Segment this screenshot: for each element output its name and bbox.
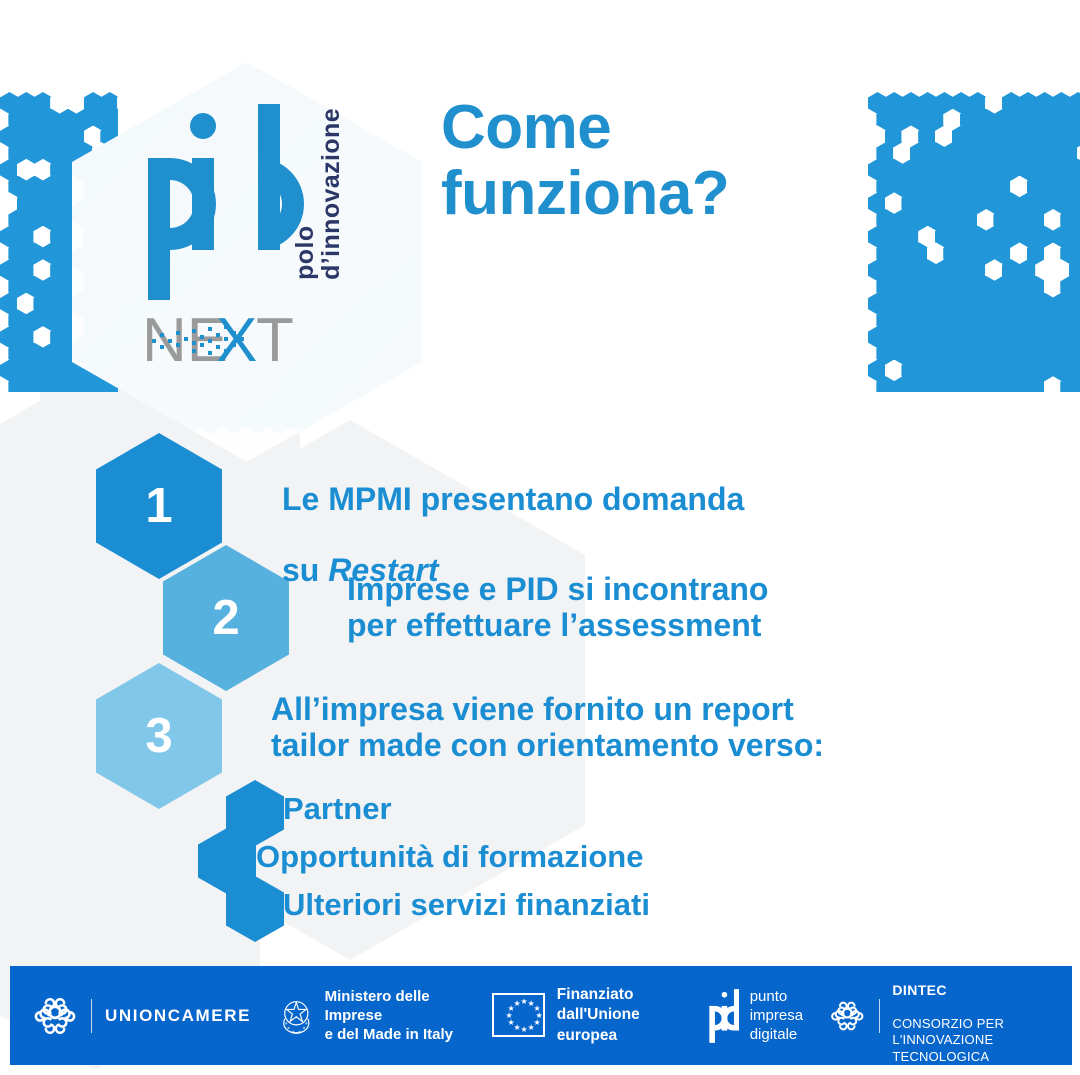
step-text-2: Imprese e PID si incontrano per effettua… xyxy=(347,572,768,644)
page-title: Come funziona? xyxy=(441,95,729,226)
logo-texture-cell xyxy=(427,267,453,297)
logo-texture-cell xyxy=(95,62,121,92)
logo-texture-cell xyxy=(381,404,407,434)
logo-texture-cell xyxy=(404,85,430,115)
logo-texture-cell xyxy=(347,62,373,92)
logo-texture-cell xyxy=(415,108,441,138)
logo-texture-cell xyxy=(301,62,327,92)
logo-texture-cell xyxy=(427,358,453,388)
pid-logo-icon xyxy=(130,100,305,300)
dintec-name: DINTEC xyxy=(892,982,1072,1000)
pid-logo-icon xyxy=(708,988,742,1044)
step-number-1: 1 xyxy=(145,478,172,534)
step-hexagon-2: 2 xyxy=(163,545,289,691)
footer-eu: ★ ★ ★ ★ ★ ★ ★ ★ ★ ★ ★ ★ Finanziato dall'… xyxy=(492,985,679,1045)
logo-texture-cell xyxy=(106,404,132,434)
step-number-2: 2 xyxy=(212,590,239,646)
step-hexagon-3: 3 xyxy=(96,663,222,809)
logo-texture-cell xyxy=(392,108,418,138)
logo-texture-cell xyxy=(392,381,418,411)
svg-text:T: T xyxy=(256,306,294,375)
unioncamere-swirl-icon xyxy=(32,993,78,1039)
logo-texture-cell xyxy=(129,404,155,434)
logo-texture-cell xyxy=(415,62,441,92)
dintec-subtitle: CONSORZIO PER L'INNOVAZIONE TECNOLOGICA xyxy=(892,1016,1004,1064)
footer-unioncamere: UNIONCAMERE xyxy=(32,993,251,1039)
ministero-label: Ministero delle Imprese e del Made in It… xyxy=(325,987,465,1045)
bullet-label: Partner xyxy=(283,793,392,824)
logo-texture-cell xyxy=(415,381,441,411)
step-text-1: Le MPMI presentano domanda su Restart xyxy=(282,446,744,589)
eu-flag-icon: ★ ★ ★ ★ ★ ★ ★ ★ ★ ★ ★ ★ xyxy=(492,993,544,1037)
logo-texture-cell xyxy=(358,404,384,434)
step-text-1-line1: Le MPMI presentano domanda xyxy=(282,481,744,517)
logo-texture-cell xyxy=(427,404,453,434)
step-number-3: 3 xyxy=(145,708,172,764)
eu-label: Finanziato dall'Unione europea xyxy=(557,985,680,1045)
logo-texture-cell xyxy=(358,85,384,115)
logo-texture-cell xyxy=(118,62,144,92)
honeycomb-pattern-right xyxy=(868,92,1080,392)
step-text-3: All’impresa viene fornito un report tail… xyxy=(271,692,824,764)
logo-texture-cell xyxy=(404,404,430,434)
svg-text:X: X xyxy=(216,306,257,375)
footer-dintec: DINTEC CONSORZIO PER L'INNOVAZIONE TECNO… xyxy=(829,966,1072,1065)
dintec-label: DINTEC CONSORZIO PER L'INNOVAZIONE TECNO… xyxy=(892,966,1072,1065)
unioncamere-label: UNIONCAMERE xyxy=(105,1006,251,1026)
step-hexagon-1: 1 xyxy=(96,433,222,579)
footer-divider xyxy=(879,999,880,1033)
footer-pid: punto impresa digitale xyxy=(708,987,803,1045)
pid-next-logo: polo d’innovazione NE T X xyxy=(130,100,360,380)
poster-canvas: polo d’innovazione NE T X xyxy=(0,0,1080,1075)
logo-texture-cell xyxy=(381,85,407,115)
logo-texture-cell xyxy=(72,62,98,92)
bullet-label: Ulteriori servizi finanziati xyxy=(283,889,650,920)
footer-bar: UNIONCAMERE Ministero delle Imprese e de… xyxy=(10,966,1072,1065)
logo-texture-cell xyxy=(141,62,167,92)
italian-republic-emblem-icon xyxy=(277,991,316,1041)
footer-ministero: Ministero delle Imprese e del Made in It… xyxy=(277,987,464,1045)
logo-texture-cell xyxy=(427,313,453,343)
pid-label: punto impresa digitale xyxy=(750,987,803,1045)
footer-divider xyxy=(91,999,92,1033)
logo-texture-cell xyxy=(324,62,350,92)
next-wordmark: NE T X xyxy=(138,305,358,375)
logo-texture-cell xyxy=(369,62,395,92)
bullet-label: Opportunità di formazione xyxy=(256,841,644,872)
next-wordmark-icon: NE T X xyxy=(138,305,358,375)
logo-texture-cell xyxy=(164,62,190,92)
logo-vertical-text: polo d’innovazione xyxy=(292,108,344,280)
dintec-swirl-icon xyxy=(829,994,866,1038)
logo-texture-cell xyxy=(392,62,418,92)
logo-texture-cell xyxy=(369,108,395,138)
logo-texture-cell xyxy=(83,404,109,434)
